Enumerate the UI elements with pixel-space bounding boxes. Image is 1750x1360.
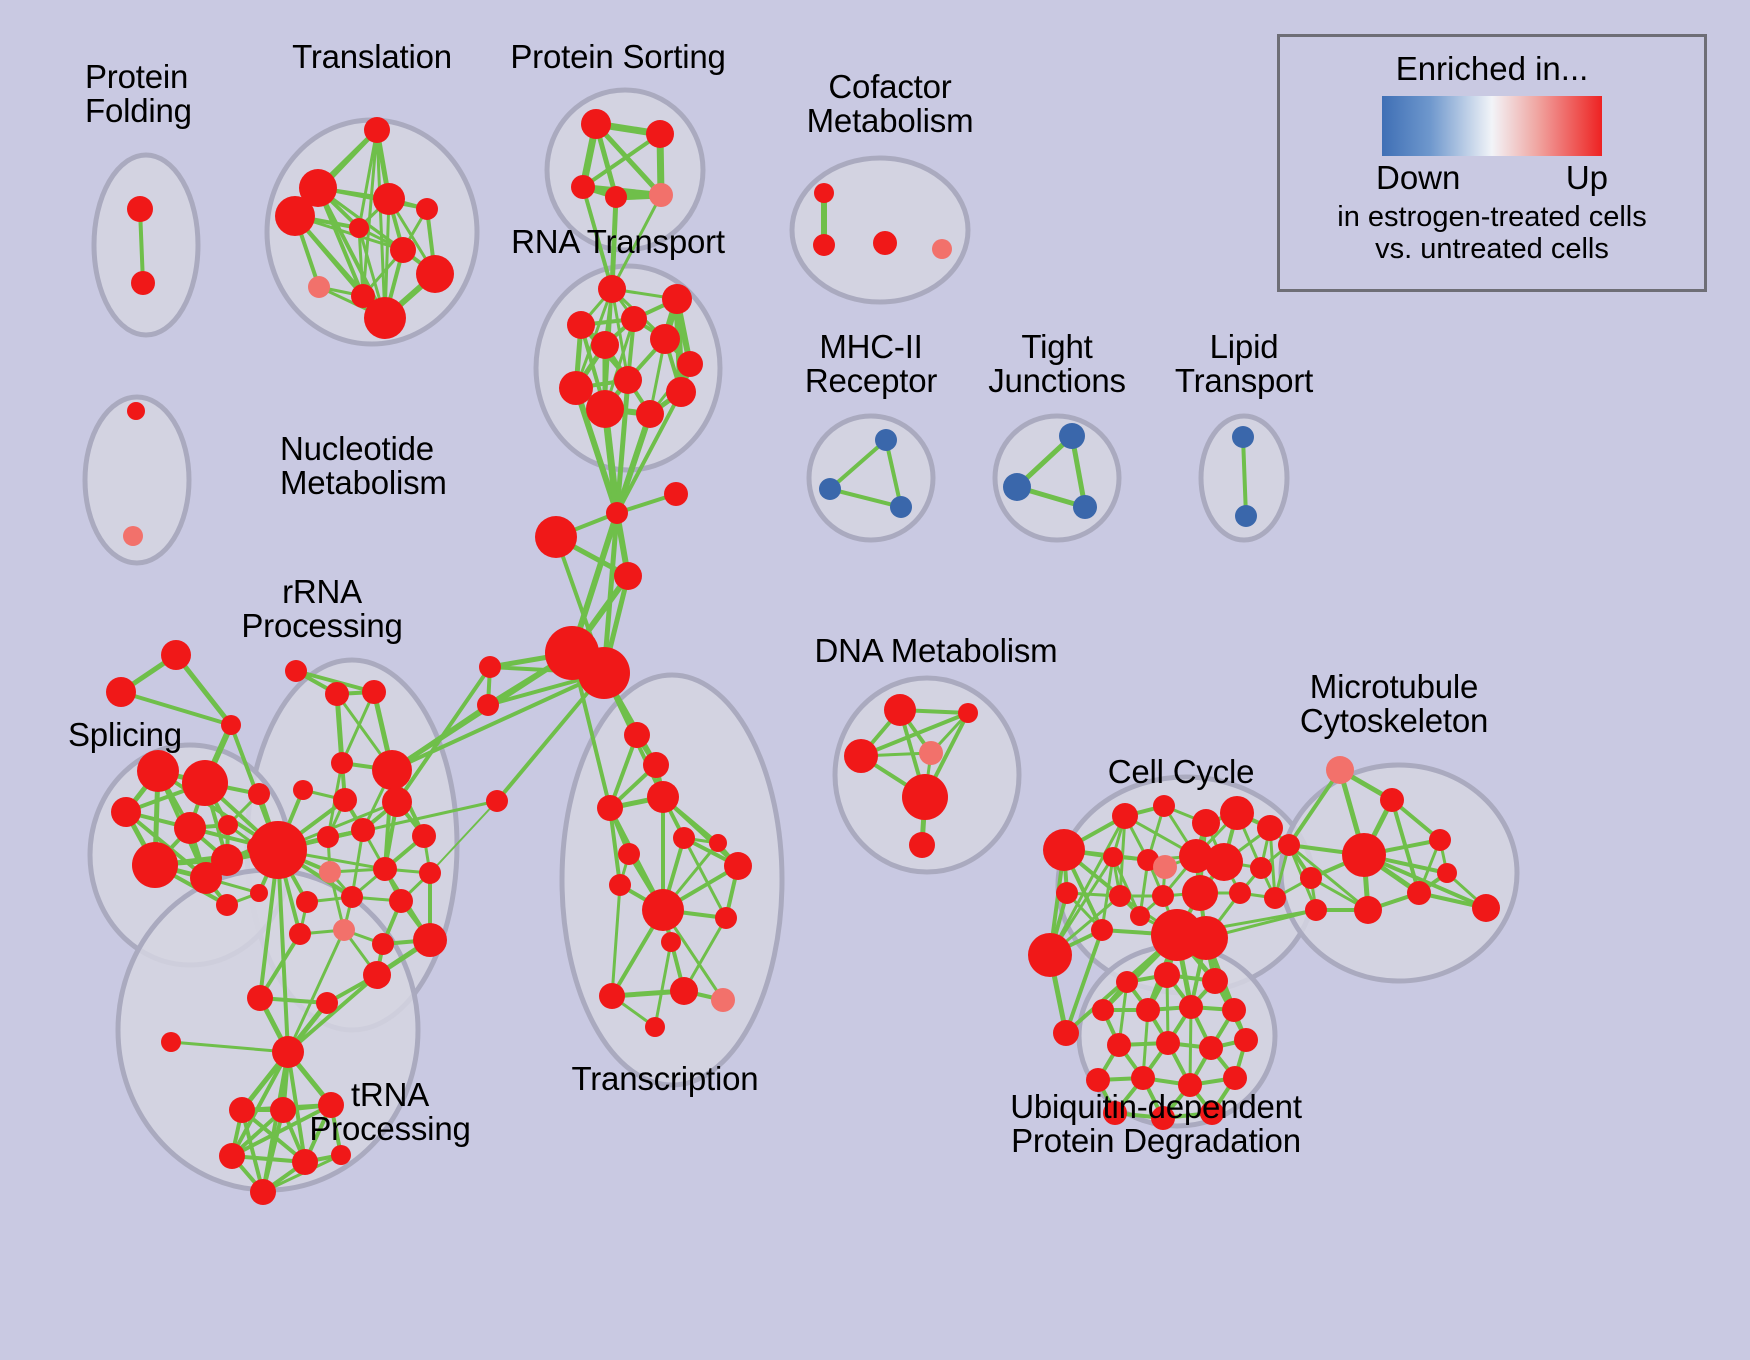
network-node[interactable] xyxy=(643,752,669,778)
network-node[interactable] xyxy=(362,680,386,704)
cluster-label-protein-sorting: Protein Sorting xyxy=(510,40,725,74)
hull-mhc-ii xyxy=(809,416,933,540)
network-node[interactable] xyxy=(614,562,642,590)
network-node[interactable] xyxy=(650,324,680,354)
cluster-label-dna-metabolism: DNA Metabolism xyxy=(815,634,1058,668)
cluster-label-translation: Translation xyxy=(292,40,452,74)
cluster-label-line: DNA Metabolism xyxy=(815,634,1058,668)
network-node[interactable] xyxy=(1156,1031,1180,1055)
network-node[interactable] xyxy=(902,774,948,820)
network-node[interactable] xyxy=(249,821,307,879)
network-node[interactable] xyxy=(351,818,375,842)
cluster-label-tight-junctions: TightJunctions xyxy=(988,330,1126,398)
network-node[interactable] xyxy=(1300,867,1322,889)
network-node[interactable] xyxy=(289,923,311,945)
network-node[interactable] xyxy=(1059,423,1085,449)
network-node[interactable] xyxy=(919,741,943,765)
network-node[interactable] xyxy=(1199,1036,1223,1060)
network-node[interactable] xyxy=(646,120,674,148)
network-node[interactable] xyxy=(666,377,696,407)
network-node[interactable] xyxy=(296,891,318,913)
network-node[interactable] xyxy=(1109,885,1131,907)
cluster-label-rna-transport: RNA Transport xyxy=(511,225,725,259)
network-node[interactable] xyxy=(270,1097,296,1123)
network-node[interactable] xyxy=(1222,998,1246,1022)
network-node[interactable] xyxy=(1153,855,1177,879)
cluster-label-line: Microtubule xyxy=(1300,670,1488,704)
network-node[interactable] xyxy=(127,196,153,222)
cluster-label-ubiquitin-degradation: Ubiquitin-dependentProtein Degradation xyxy=(1010,1090,1302,1158)
network-node[interactable] xyxy=(664,482,688,506)
network-node[interactable] xyxy=(182,760,228,806)
network-node[interactable] xyxy=(1073,495,1097,519)
cluster-label-line: Transcription xyxy=(572,1062,759,1096)
cluster-label-line: Lipid xyxy=(1175,330,1313,364)
network-node[interactable] xyxy=(598,275,626,303)
network-node[interactable] xyxy=(624,722,650,748)
network-node[interactable] xyxy=(218,815,238,835)
network-node[interactable] xyxy=(1229,882,1251,904)
network-node[interactable] xyxy=(479,656,501,678)
network-node[interactable] xyxy=(1257,815,1283,841)
legend-endpoint-labels: Down Up xyxy=(1376,159,1608,197)
network-node[interactable] xyxy=(123,526,143,546)
network-node[interactable] xyxy=(161,640,191,670)
network-node[interactable] xyxy=(649,183,673,207)
legend-gradient-wrap xyxy=(1382,96,1602,156)
network-node[interactable] xyxy=(137,750,179,792)
network-node[interactable] xyxy=(909,832,935,858)
cluster-label-line: Ubiquitin-dependent xyxy=(1010,1090,1302,1124)
network-node[interactable] xyxy=(363,961,391,989)
network-node[interactable] xyxy=(1326,756,1354,784)
network-node[interactable] xyxy=(875,429,897,451)
network-node[interactable] xyxy=(591,331,619,359)
network-node[interactable] xyxy=(1250,857,1272,879)
network-node[interactable] xyxy=(1153,795,1175,817)
network-node[interactable] xyxy=(219,1143,245,1169)
cluster-label-lipid-transport: LipidTransport xyxy=(1175,330,1313,398)
network-node[interactable] xyxy=(1235,505,1257,527)
network-node[interactable] xyxy=(1472,894,1500,922)
cluster-label-protein-folding: ProteinFolding xyxy=(85,60,192,128)
network-node[interactable] xyxy=(647,781,679,813)
network-node[interactable] xyxy=(1003,473,1031,501)
cluster-label-line: Cofactor xyxy=(807,70,974,104)
network-node[interactable] xyxy=(248,783,270,805)
network-node[interactable] xyxy=(662,284,692,314)
network-node[interactable] xyxy=(673,827,695,849)
network-node[interactable] xyxy=(724,852,752,880)
network-node[interactable] xyxy=(1278,834,1300,856)
network-node[interactable] xyxy=(1429,829,1451,851)
network-node[interactable] xyxy=(1220,796,1254,830)
network-node[interactable] xyxy=(1354,896,1382,924)
network-node[interactable] xyxy=(412,824,436,848)
network-node[interactable] xyxy=(618,843,640,865)
network-node[interactable] xyxy=(372,750,412,790)
cluster-label-line: Translation xyxy=(292,40,452,74)
network-node[interactable] xyxy=(844,739,878,773)
network-node[interactable] xyxy=(535,516,577,558)
cluster-label-trna-processing: tRNAProcessing xyxy=(309,1078,470,1146)
network-node[interactable] xyxy=(364,117,390,143)
network-node[interactable] xyxy=(1437,863,1457,883)
network-node[interactable] xyxy=(1056,882,1078,904)
network-node[interactable] xyxy=(605,186,627,208)
network-node[interactable] xyxy=(1116,971,1138,993)
network-node[interactable] xyxy=(247,985,273,1011)
cluster-label-line: Protein Sorting xyxy=(510,40,725,74)
network-node[interactable] xyxy=(884,694,916,726)
hull-protein-folding xyxy=(94,155,198,335)
network-node[interactable] xyxy=(599,983,625,1009)
network-node[interactable] xyxy=(1202,968,1228,994)
cluster-label-line: Receptor xyxy=(805,364,937,398)
network-node[interactable] xyxy=(819,478,841,500)
network-node[interactable] xyxy=(317,826,339,848)
network-node[interactable] xyxy=(316,992,338,1014)
network-node[interactable] xyxy=(1223,1066,1247,1090)
network-node[interactable] xyxy=(597,795,623,821)
network-node[interactable] xyxy=(349,218,369,238)
network-node[interactable] xyxy=(890,496,912,518)
network-node[interactable] xyxy=(341,886,363,908)
network-node[interactable] xyxy=(111,797,141,827)
network-node[interactable] xyxy=(814,183,834,203)
network-node[interactable] xyxy=(578,647,630,699)
network-node[interactable] xyxy=(586,390,624,428)
network-node[interactable] xyxy=(250,884,268,902)
network-node[interactable] xyxy=(416,198,438,220)
network-node[interactable] xyxy=(319,861,341,883)
cluster-label-mhc-ii-receptor: MHC-IIReceptor xyxy=(805,330,937,398)
network-node[interactable] xyxy=(285,660,307,682)
network-node[interactable] xyxy=(1234,1028,1258,1052)
network-node[interactable] xyxy=(614,366,642,394)
network-node[interactable] xyxy=(609,874,631,896)
network-node[interactable] xyxy=(1091,919,1113,941)
network-node[interactable] xyxy=(131,271,155,295)
network-node[interactable] xyxy=(677,351,703,377)
cluster-label-nucleotide-metabolism: NucleotideMetabolism xyxy=(280,432,447,500)
network-node[interactable] xyxy=(1205,843,1243,881)
network-node[interactable] xyxy=(1152,885,1174,907)
network-node[interactable] xyxy=(333,919,355,941)
network-node[interactable] xyxy=(1182,875,1218,911)
cluster-label-line: Splicing xyxy=(68,718,182,752)
network-node[interactable] xyxy=(1092,999,1114,1021)
network-node[interactable] xyxy=(1131,1066,1155,1090)
cluster-label-cell-cycle: Cell Cycle xyxy=(1108,755,1255,789)
network-node[interactable] xyxy=(372,933,394,955)
network-node[interactable] xyxy=(292,1149,318,1175)
network-node[interactable] xyxy=(715,907,737,929)
cluster-label-splicing: Splicing xyxy=(68,718,182,752)
network-node[interactable] xyxy=(373,857,397,881)
network-node[interactable] xyxy=(419,862,441,884)
network-node[interactable] xyxy=(581,109,611,139)
cluster-label-transcription: Transcription xyxy=(572,1062,759,1096)
network-node[interactable] xyxy=(567,311,595,339)
network-node[interactable] xyxy=(1112,803,1138,829)
legend-low-label: Down xyxy=(1376,159,1460,197)
network-node[interactable] xyxy=(606,502,628,524)
cluster-label-line: tRNA xyxy=(309,1078,470,1112)
network-node[interactable] xyxy=(216,894,238,916)
cluster-label-line: Cytoskeleton xyxy=(1300,704,1488,738)
network-node[interactable] xyxy=(645,1017,665,1037)
network-node[interactable] xyxy=(333,788,357,812)
network-node[interactable] xyxy=(221,715,241,735)
cluster-label-line: MHC-II xyxy=(805,330,937,364)
network-node[interactable] xyxy=(416,255,454,293)
network-node[interactable] xyxy=(1103,847,1123,867)
cluster-label-line: Transport xyxy=(1175,364,1313,398)
network-node[interactable] xyxy=(331,752,353,774)
network-node[interactable] xyxy=(932,239,952,259)
network-node[interactable] xyxy=(389,889,413,913)
cluster-label-line: Processing xyxy=(309,1112,470,1146)
network-node[interactable] xyxy=(486,790,508,812)
network-node[interactable] xyxy=(211,844,243,876)
network-node[interactable] xyxy=(1154,962,1180,988)
network-node[interactable] xyxy=(132,842,178,888)
network-node[interactable] xyxy=(1184,916,1228,960)
network-node[interactable] xyxy=(1043,829,1085,871)
network-node[interactable] xyxy=(1342,833,1386,877)
network-node[interactable] xyxy=(413,923,447,957)
network-node[interactable] xyxy=(642,889,684,931)
network-node[interactable] xyxy=(1053,1020,1079,1046)
network-node[interactable] xyxy=(229,1097,255,1123)
network-node[interactable] xyxy=(293,780,313,800)
network-node[interactable] xyxy=(1264,887,1286,909)
network-node[interactable] xyxy=(559,371,593,405)
cluster-label-line: Cell Cycle xyxy=(1108,755,1255,789)
network-node[interactable] xyxy=(364,297,406,339)
network-node[interactable] xyxy=(873,231,897,255)
hull-cofactor-metabolism xyxy=(792,158,968,302)
enrichment-network-figure: ProteinFoldingTranslationProtein Sorting… xyxy=(0,0,1750,1360)
cluster-label-cofactor-metabolism: CofactorMetabolism xyxy=(807,70,974,138)
legend-caption-line-1: in estrogen-treated cells xyxy=(1337,201,1647,233)
network-node[interactable] xyxy=(331,1145,351,1165)
cluster-label-line: RNA Transport xyxy=(511,225,725,259)
cluster-label-rrna-processing: rRNAProcessing xyxy=(241,575,402,643)
network-node[interactable] xyxy=(325,682,349,706)
legend-panel: Enriched in... Down Up in estrogen-treat… xyxy=(1277,34,1707,292)
legend-caption-line-2: vs. untreated cells xyxy=(1337,233,1647,265)
network-node[interactable] xyxy=(106,677,136,707)
cluster-label-line: Processing xyxy=(241,609,402,643)
network-node[interactable] xyxy=(373,183,405,215)
network-node[interactable] xyxy=(1305,899,1327,921)
cluster-label-line: rRNA xyxy=(241,575,402,609)
legend-high-label: Up xyxy=(1566,159,1608,197)
legend-caption: in estrogen-treated cells vs. untreated … xyxy=(1337,201,1647,266)
network-node[interactable] xyxy=(390,237,416,263)
network-node[interactable] xyxy=(813,234,835,256)
cluster-label-line: Protein xyxy=(85,60,192,94)
network-node[interactable] xyxy=(636,400,664,428)
network-node[interactable] xyxy=(1130,906,1150,926)
network-node[interactable] xyxy=(1136,998,1160,1022)
network-node[interactable] xyxy=(161,1032,181,1052)
cluster-label-line: Protein Degradation xyxy=(1010,1124,1302,1158)
network-node[interactable] xyxy=(1192,809,1220,837)
network-node[interactable] xyxy=(1028,933,1072,977)
network-node[interactable] xyxy=(1232,426,1254,448)
network-node[interactable] xyxy=(250,1179,276,1205)
cluster-label-line: Metabolism xyxy=(807,104,974,138)
cluster-label-line: Nucleotide xyxy=(280,432,447,466)
legend-color-gradient-bar xyxy=(1382,96,1602,156)
network-node[interactable] xyxy=(661,932,681,952)
network-node[interactable] xyxy=(670,977,698,1005)
network-node[interactable] xyxy=(1179,995,1203,1019)
network-node[interactable] xyxy=(1407,881,1431,905)
network-node[interactable] xyxy=(275,196,315,236)
network-node[interactable] xyxy=(477,694,499,716)
network-node[interactable] xyxy=(382,787,412,817)
network-node[interactable] xyxy=(1380,788,1404,812)
cluster-label-line: Folding xyxy=(85,94,192,128)
network-node[interactable] xyxy=(709,834,727,852)
network-node[interactable] xyxy=(308,276,330,298)
network-node[interactable] xyxy=(571,175,595,199)
network-node[interactable] xyxy=(958,703,978,723)
cluster-label-line: Metabolism xyxy=(280,466,447,500)
cluster-label-microtubule-cytoskeleton: MicrotubuleCytoskeleton xyxy=(1300,670,1488,738)
cluster-label-line: Junctions xyxy=(988,364,1126,398)
legend-title: Enriched in... xyxy=(1396,50,1589,88)
network-node[interactable] xyxy=(1107,1033,1131,1057)
network-node[interactable] xyxy=(174,812,206,844)
network-node[interactable] xyxy=(621,306,647,332)
network-node[interactable] xyxy=(711,988,735,1012)
network-node[interactable] xyxy=(272,1036,304,1068)
network-node[interactable] xyxy=(127,402,145,420)
cluster-label-line: Tight xyxy=(988,330,1126,364)
